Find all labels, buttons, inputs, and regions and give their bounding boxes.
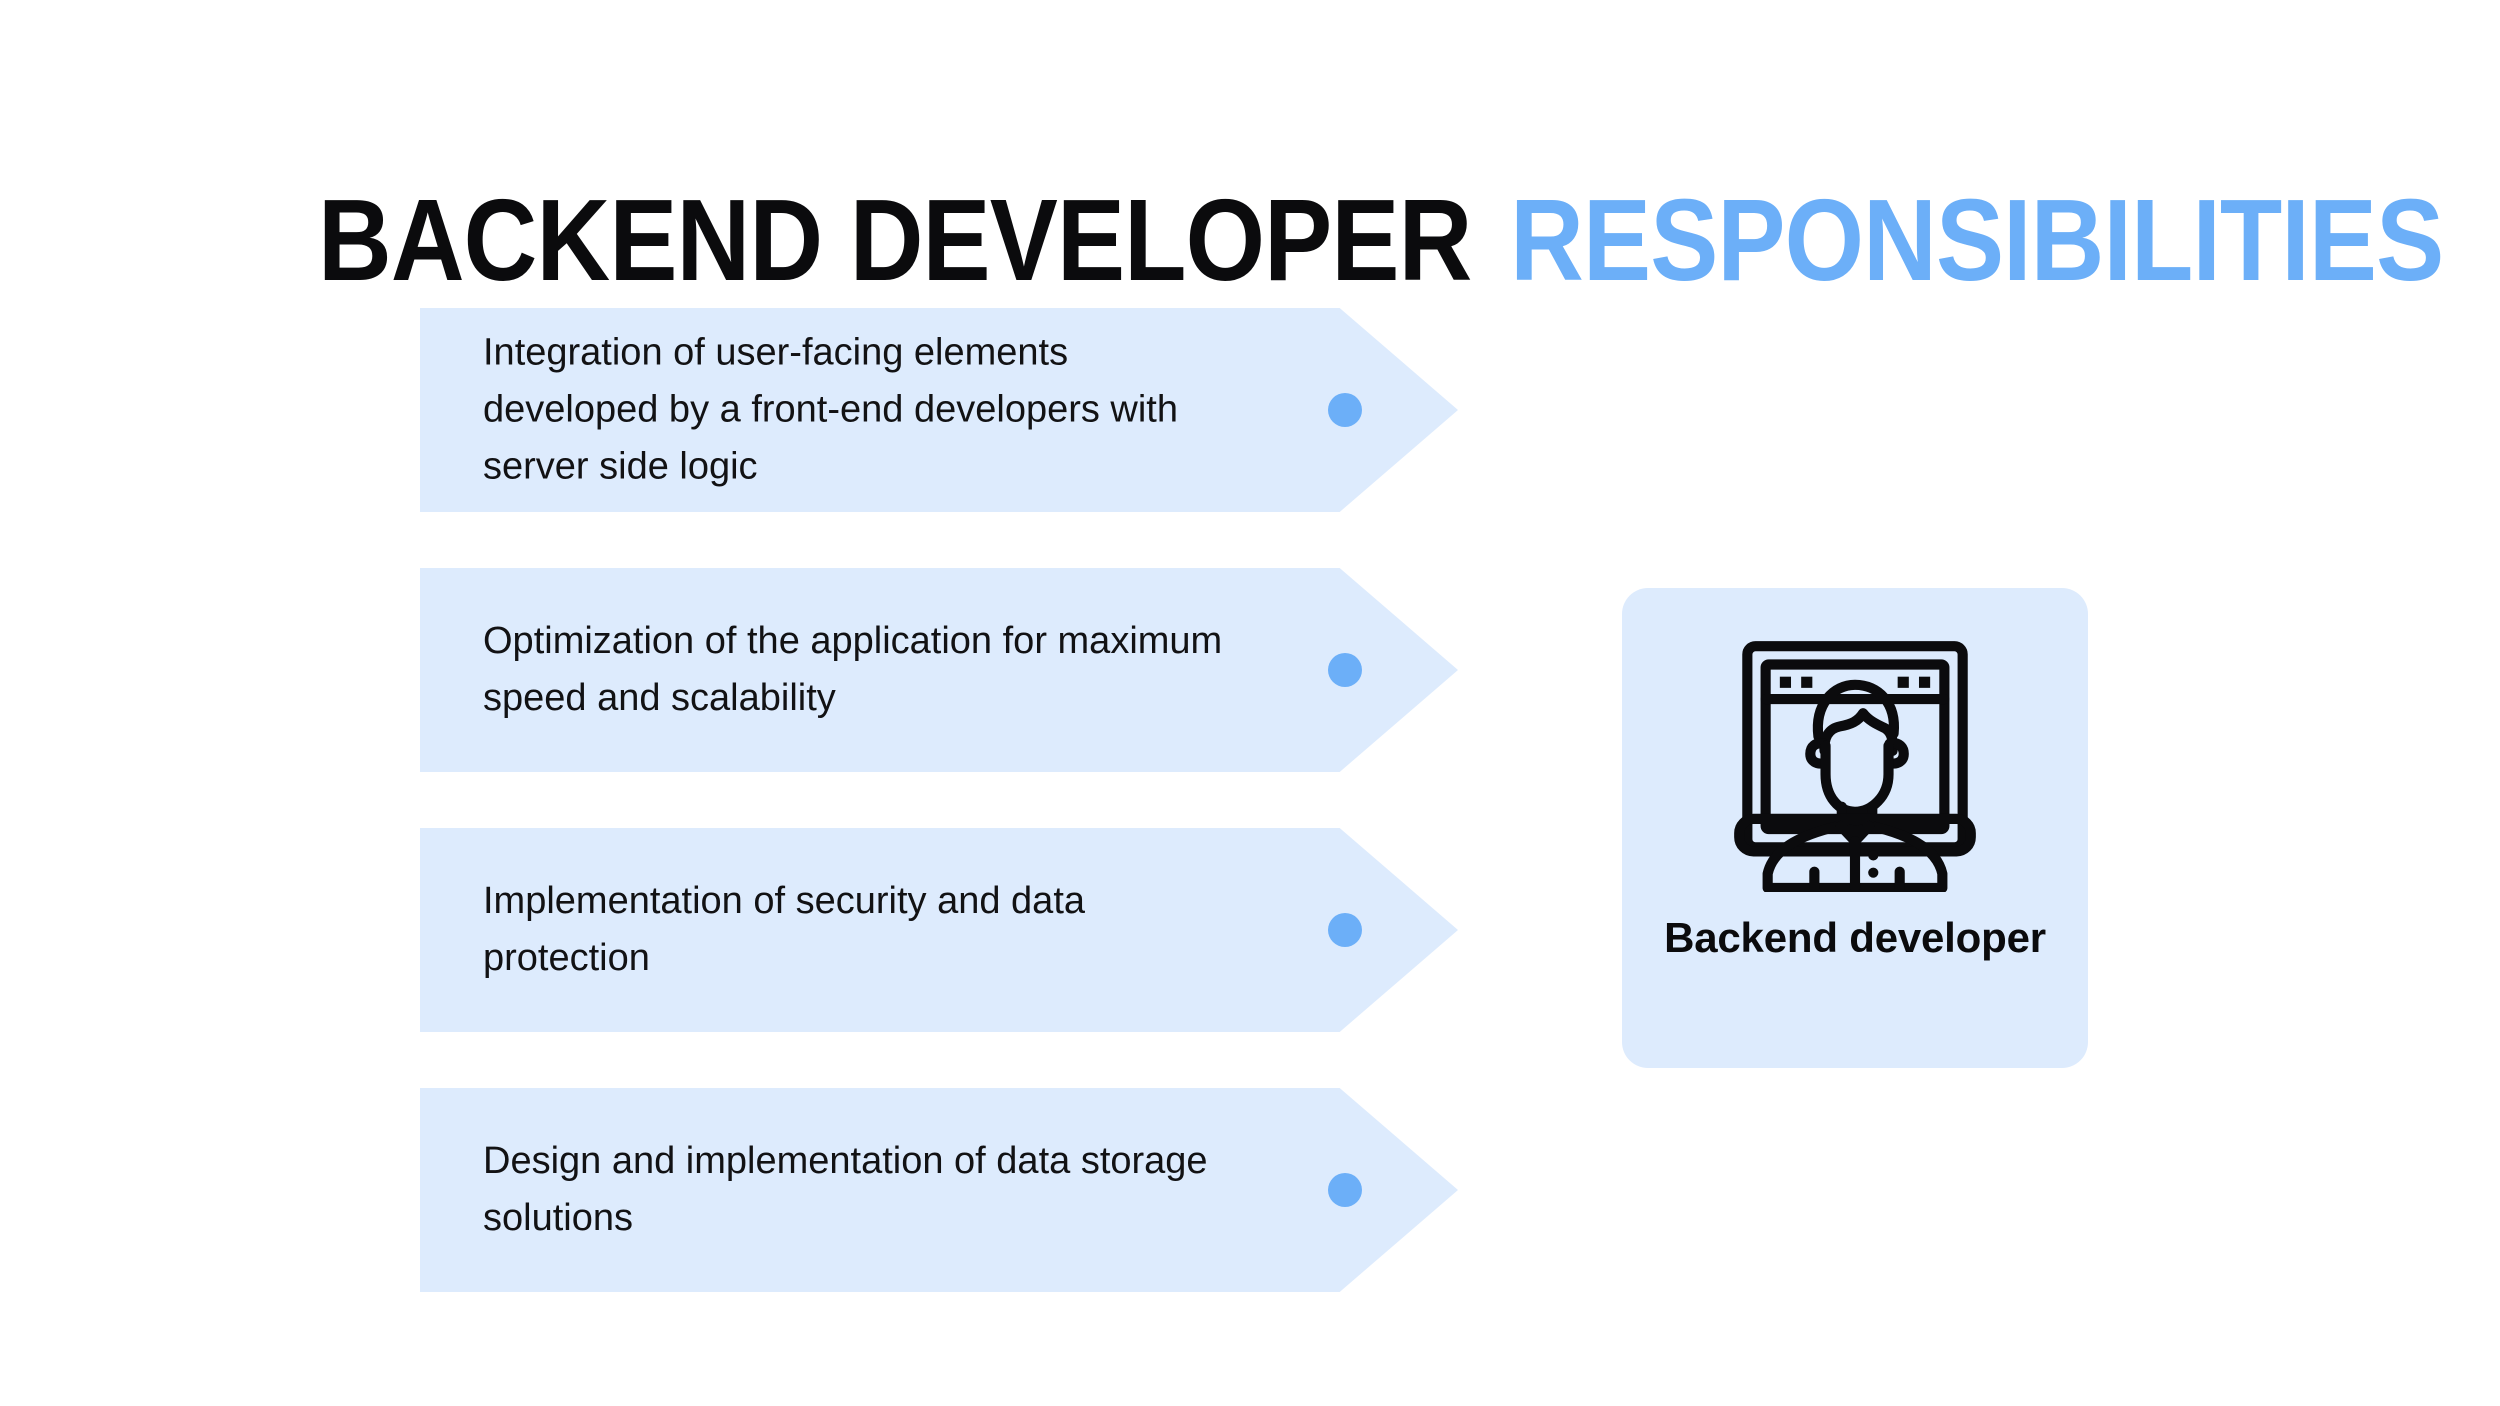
role-card-label: Backend developer (1664, 914, 2046, 962)
slide-root: BACKEND DEVELOPERRESPONSIBILITIES Integr… (0, 0, 2500, 1406)
bullet-dot-icon (1328, 653, 1362, 687)
responsibility-text: Integration of user-facing elements deve… (483, 325, 1253, 496)
responsibility-banner-2[interactable]: Optimization of the application for maxi… (420, 568, 1458, 772)
page-title: BACKEND DEVELOPERRESPONSIBILITIES (318, 182, 2443, 298)
page-title-accent: RESPONSIBILITIES (1510, 175, 2443, 305)
bullet-dot-icon (1328, 1173, 1362, 1207)
bullet-dot-icon (1328, 913, 1362, 947)
responsibility-text: Optimization of the application for maxi… (483, 613, 1253, 727)
page-title-primary: BACKEND DEVELOPER (318, 175, 1471, 305)
role-card[interactable]: Backend developer (1622, 588, 2088, 1068)
responsibility-banner-4[interactable]: Design and implementation of data storag… (420, 1088, 1458, 1292)
responsibility-banner-1[interactable]: Integration of user-facing elements deve… (420, 308, 1458, 512)
responsibility-text: Implementation of security and data prot… (483, 873, 1253, 987)
responsibilities-list: Integration of user-facing elements deve… (420, 308, 1480, 1348)
developer-at-browser-icon (1725, 632, 1985, 892)
responsibility-banner-3[interactable]: Implementation of security and data prot… (420, 828, 1458, 1032)
responsibility-text: Design and implementation of data storag… (483, 1133, 1253, 1247)
bullet-dot-icon (1328, 393, 1362, 427)
